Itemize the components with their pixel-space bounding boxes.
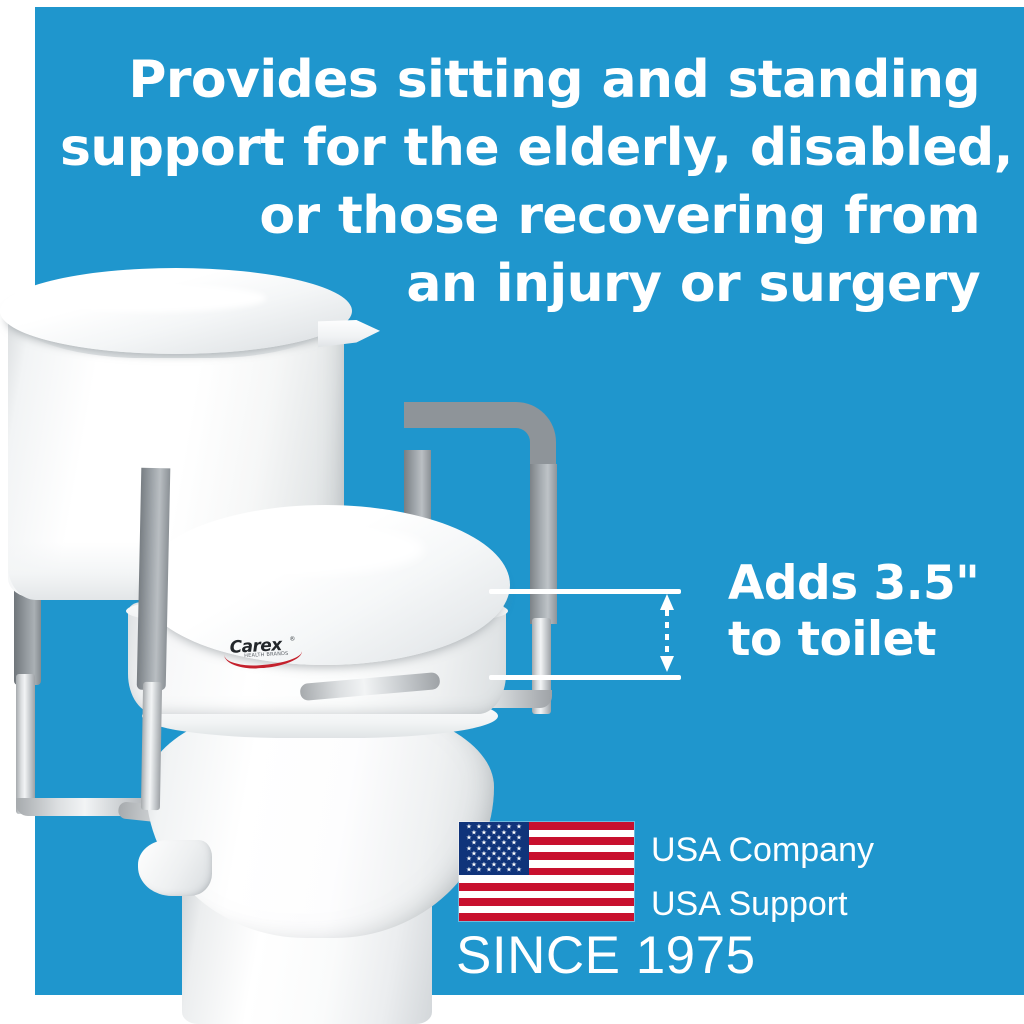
flag-stripe <box>459 898 634 906</box>
flag-star: ★ <box>476 867 482 874</box>
tank-lid <box>0 268 352 354</box>
toilet-seat-lid <box>140 505 510 665</box>
usa-company-label: USA Company <box>651 833 874 867</box>
flag-star: ★ <box>506 867 512 874</box>
headline-line-3: or those recovering from <box>60 182 980 250</box>
arrow-head-down-icon <box>660 656 674 672</box>
flag-stripe <box>459 883 634 891</box>
usa-flag-icon: ★★★★★★★★★★★★★★★★★★★★★★★★★★★★★★★★★★★★★★★★… <box>459 822 634 921</box>
flag-stripe <box>459 913 634 921</box>
arrow-dashed-shaft <box>665 610 669 656</box>
measure-top-line-icon <box>489 589 681 594</box>
measurement-line-2: to toilet <box>728 612 979 668</box>
flag-star: ★ <box>486 867 492 874</box>
flag-star: ★ <box>516 867 522 874</box>
measurement-line-1: Adds 3.5" <box>728 556 979 612</box>
right-grab-bar-foam-outer <box>530 464 557 624</box>
left-grab-bar-tube-outer <box>16 674 35 814</box>
left-grab-bar-foam-inner <box>137 468 171 691</box>
flag-star: ★ <box>466 867 472 874</box>
headline-line-1: Provides sitting and standing <box>60 46 980 114</box>
since-label: SINCE 1975 <box>456 929 756 982</box>
flag-star: ★ <box>496 867 502 874</box>
headline-line-2: support for the elderly, disabled, <box>60 114 980 182</box>
left-grab-bar-tube-inner <box>141 682 162 810</box>
flag-canton: ★★★★★★★★★★★★★★★★★★★★★★★★★★★★★★★★★★★★★★★★… <box>459 822 529 875</box>
measurement-callout-text: Adds 3.5" to toilet <box>728 556 979 668</box>
measure-bottom-line-icon <box>489 675 681 680</box>
carex-registered-mark: ® <box>289 635 295 642</box>
toilet-base-flange <box>138 840 212 896</box>
double-arrow-dashed-icon <box>659 594 675 672</box>
arrow-head-up-icon <box>660 594 674 610</box>
carex-logo: Carex ® HEALTH BRANDS <box>221 634 308 668</box>
product-feature-image: Provides sitting and standing support fo… <box>0 0 1024 1024</box>
usa-support-label: USA Support <box>651 887 848 921</box>
